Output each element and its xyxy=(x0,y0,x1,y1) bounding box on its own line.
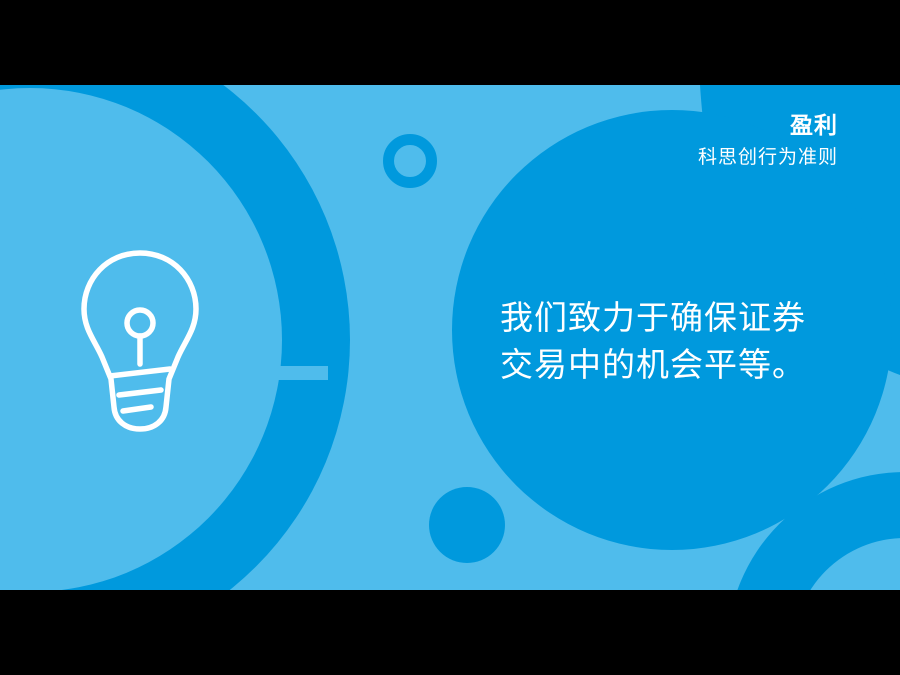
letterbox-bottom xyxy=(0,590,900,675)
page-subtitle: 科思创行为准则 xyxy=(698,148,838,169)
slide-canvas: 盈利 科思创行为准则 我们致力于确保证券 交易中的机会平等。 xyxy=(0,85,900,590)
slide-stage: 盈利 科思创行为准则 我们致力于确保证券 交易中的机会平等。 xyxy=(0,0,900,675)
lightbulb-icon xyxy=(70,245,210,435)
body-statement: 我们致力于确保证券 交易中的机会平等。 xyxy=(500,295,840,389)
page-title: 盈利 xyxy=(698,113,838,138)
heading-group: 盈利 科思创行为准则 xyxy=(698,113,838,169)
letterbox-top xyxy=(0,0,900,85)
